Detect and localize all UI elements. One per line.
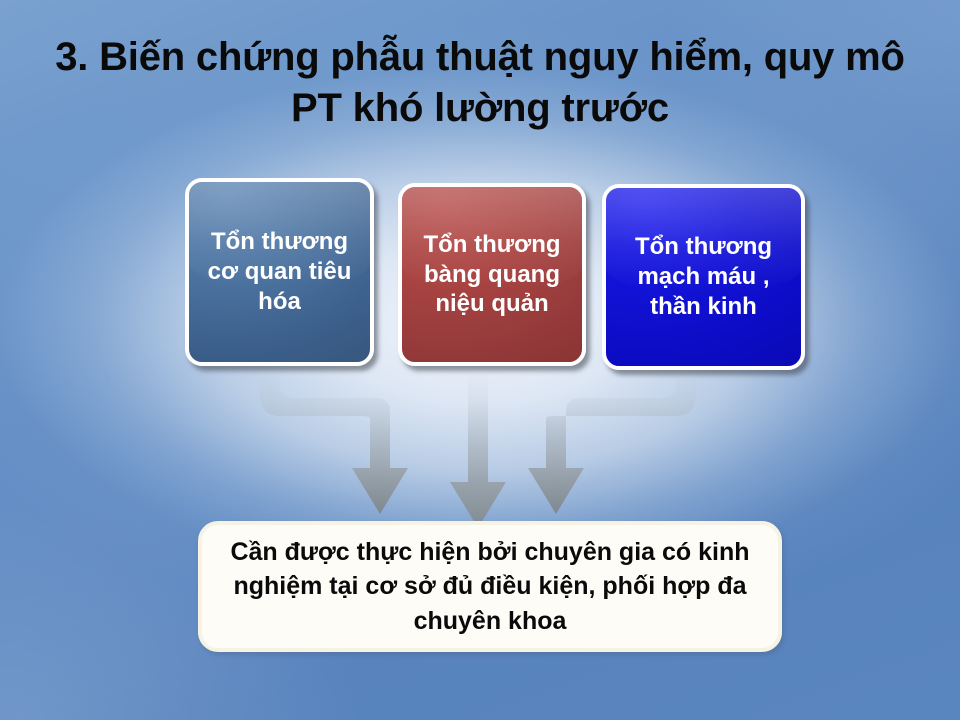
complication-box-bladder[interactable]: Tổn thương bàng quang niệu quản [398,183,586,366]
complication-box-vascular-label: Tổn thương mạch máu , thần kinh [606,232,801,321]
slide-canvas: 3. Biến chứng phẫu thuật nguy hiểm, quy … [0,0,960,720]
complication-box-digestive-label: Tổn thương cơ quan tiêu hóa [189,227,370,316]
complication-box-digestive[interactable]: Tổn thương cơ quan tiêu hóa [185,178,374,366]
conclusion-box-label: Cần được thực hiện bởi chuyên gia có kin… [202,535,778,639]
complication-box-bladder-label: Tổn thương bàng quang niệu quản [402,230,582,319]
page-title: 3. Biến chứng phẫu thuật nguy hiểm, quy … [46,32,914,134]
conclusion-box[interactable]: Cần được thực hiện bởi chuyên gia có kin… [198,521,782,652]
complication-box-vascular[interactable]: Tổn thương mạch máu , thần kinh [602,184,805,370]
